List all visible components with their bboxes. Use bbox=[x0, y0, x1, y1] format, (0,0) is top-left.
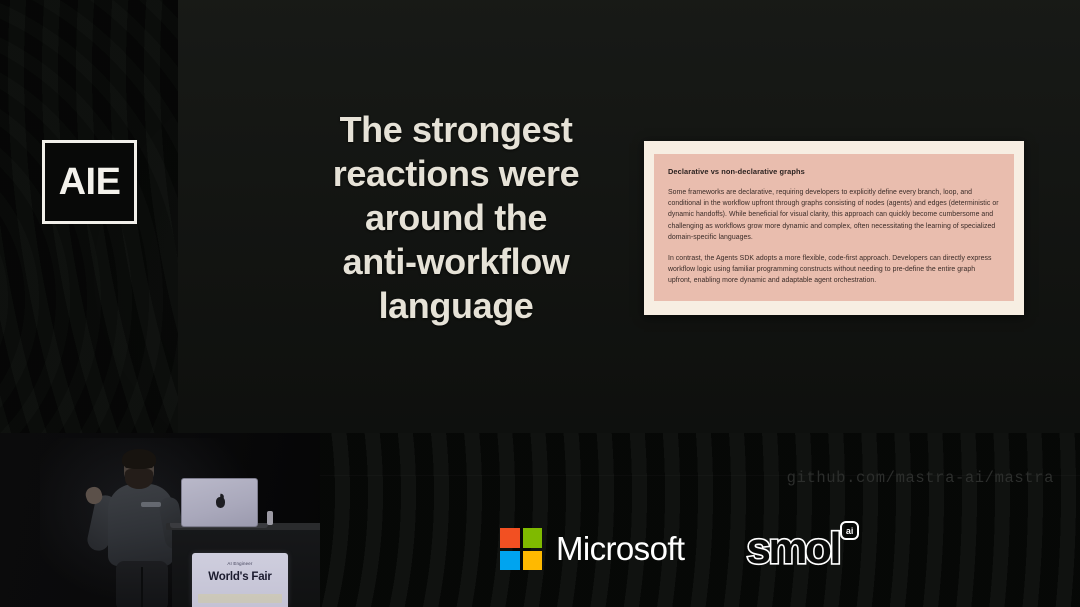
speaker-beard bbox=[125, 469, 153, 489]
smol-ai-badge: ai bbox=[840, 521, 859, 540]
speaker-video-tile: AI Engineer World's Fair bbox=[0, 433, 320, 607]
aie-logo-text: AIE bbox=[59, 163, 121, 201]
podium-sign-accent-strip bbox=[198, 594, 282, 603]
quote-card-paragraph-1: Some frameworks are declarative, requiri… bbox=[668, 187, 1000, 243]
apple-logo-icon bbox=[216, 497, 225, 508]
microsoft-square-red bbox=[500, 528, 520, 548]
quote-card-paragraph-2: In contrast, the Agents SDK adopts a mor… bbox=[668, 253, 1000, 287]
repo-url-text: github.com/mastra-ai/mastra bbox=[787, 469, 1054, 487]
microsoft-logo: Microsoft bbox=[500, 528, 684, 570]
podium-sign: AI Engineer World's Fair bbox=[192, 553, 288, 607]
slide-panel: The strongest reactions were around the … bbox=[178, 0, 1080, 433]
microsoft-wordmark: Microsoft bbox=[556, 530, 684, 568]
podium-sign-title: World's Fair bbox=[192, 571, 288, 583]
speaker-hair bbox=[122, 449, 156, 469]
aie-logo: AIE bbox=[42, 140, 137, 224]
smol-ai-logo: smol ai bbox=[746, 527, 839, 571]
quote-card-heading: Declarative vs non-declarative graphs bbox=[668, 167, 1000, 176]
microphone-icon bbox=[267, 511, 273, 525]
microsoft-square-yellow bbox=[523, 551, 543, 571]
smol-wordmark: smol bbox=[746, 524, 839, 573]
speaker-leg-divider bbox=[141, 567, 143, 607]
quote-card-inner: Declarative vs non-declarative graphs So… bbox=[654, 154, 1014, 301]
quote-card: Declarative vs non-declarative graphs So… bbox=[644, 141, 1024, 315]
speaker-shirt-logo bbox=[141, 502, 161, 507]
slide-headline: The strongest reactions were around the … bbox=[276, 108, 636, 328]
sponsor-logos: Microsoft smol ai bbox=[500, 527, 839, 571]
microsoft-square-blue bbox=[500, 551, 520, 571]
laptop-lid bbox=[181, 478, 258, 527]
microsoft-square-green bbox=[523, 528, 543, 548]
podium-sign-subtitle: AI Engineer bbox=[192, 561, 288, 566]
microsoft-squares-icon bbox=[500, 528, 542, 570]
presentation-screenshot: The strongest reactions were around the … bbox=[0, 0, 1080, 607]
